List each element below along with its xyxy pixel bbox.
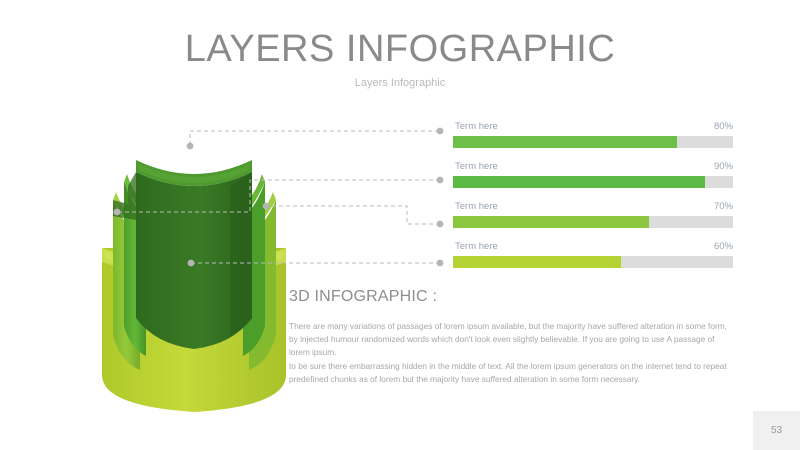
page-number-badge: 53 (753, 411, 800, 450)
progress-label-1: Term here (455, 121, 498, 132)
progress-fill-1 (453, 136, 677, 148)
progress-label-4: Term here (455, 241, 498, 252)
description-heading: 3D INFOGRAPHIC : (289, 288, 735, 306)
progress-row-4[interactable]: Term here 60% (453, 241, 733, 271)
description-paragraph: There are many variations of passages of… (289, 320, 735, 386)
progress-row-2[interactable]: Term here 90% (453, 161, 733, 191)
progress-row-3[interactable]: Term here 70% (453, 201, 733, 231)
progress-fill-2 (453, 176, 705, 188)
progress-percent-1: 80% (714, 121, 733, 132)
progress-percent-2: 90% (714, 161, 733, 172)
progress-track-3 (453, 216, 733, 228)
progress-percent-3: 70% (714, 201, 733, 212)
progress-label-2: Term here (455, 161, 498, 172)
progress-percent-4: 60% (714, 241, 733, 252)
node-dot-bar-1 (437, 128, 444, 135)
node-dot-bar-2 (437, 177, 444, 184)
progress-track-1 (453, 136, 733, 148)
progress-track-4 (453, 256, 733, 268)
cylinder-svg (80, 130, 310, 420)
page-subtitle: Layers Infographic (0, 77, 800, 89)
page-number-text: 53 (771, 425, 782, 436)
progress-track-2 (453, 176, 733, 188)
progress-bar-list: Term here 80% Term here 90% Term here 70… (453, 121, 733, 281)
progress-label-3: Term here (455, 201, 498, 212)
cylinder-layer-1-core (136, 160, 252, 349)
node-dot-bar-3 (437, 221, 444, 228)
page-title: LAYERS INFOGRAPHIC (0, 28, 800, 71)
progress-row-1[interactable]: Term here 80% (453, 121, 733, 151)
node-dot-bar-4 (437, 260, 444, 267)
layers-cylinder-graphic (80, 130, 310, 420)
progress-fill-3 (453, 216, 649, 228)
progress-fill-4 (453, 256, 621, 268)
description-section: 3D INFOGRAPHIC : There are many variatio… (289, 288, 735, 386)
